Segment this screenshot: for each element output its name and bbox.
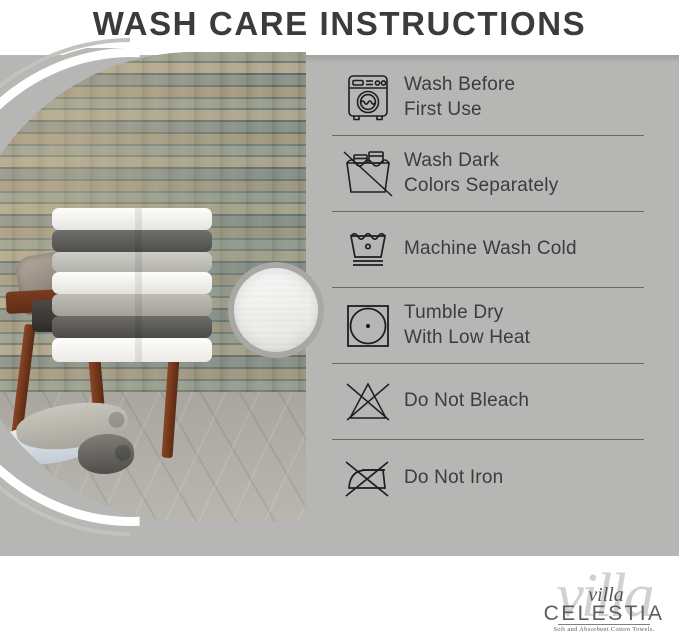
folded-towel xyxy=(52,338,212,362)
logo-divider xyxy=(558,624,650,625)
wash-care-infographic: WASH CARE INSTRUCTIONS xyxy=(0,0,679,642)
page-title: WASH CARE INSTRUCTIONS xyxy=(0,0,679,48)
instruction-list: Wash Before First Use Wash Dark Colors S… xyxy=(332,60,644,516)
machine-wash-cold-icon xyxy=(332,222,404,278)
instruction-row-machine-wash-cold: Machine Wash Cold xyxy=(332,212,644,288)
instruction-label: Wash Dark Colors Separately xyxy=(404,149,558,198)
folded-towel xyxy=(52,316,212,338)
folded-towel xyxy=(52,294,212,316)
do-not-bleach-icon xyxy=(332,374,404,430)
instruction-label: Do Not Bleach xyxy=(404,389,529,413)
instruction-label: Do Not Iron xyxy=(404,466,503,490)
instruction-row-do-not-bleach: Do Not Bleach xyxy=(332,364,644,440)
do-not-iron-icon xyxy=(332,450,404,506)
folded-towel xyxy=(52,272,212,294)
logo-brand-name: CELESTIA xyxy=(536,602,672,626)
folded-towel xyxy=(52,230,212,252)
instruction-row-tumble-dry-low-heat: Tumble Dry With Low Heat xyxy=(332,288,644,364)
fabric-closeup-magnifier xyxy=(228,262,324,358)
instruction-row-do-not-iron: Do Not Iron xyxy=(332,440,644,516)
washing-machine-icon xyxy=(332,70,404,126)
wash-dark-separately-icon xyxy=(332,146,404,202)
folded-towel xyxy=(52,208,212,230)
instruction-label: Wash Before First Use xyxy=(404,73,515,122)
brand-logo: villa villa CELESTIA Soft and Absorbent … xyxy=(536,562,672,638)
instruction-label: Machine Wash Cold xyxy=(404,237,577,261)
instruction-row-wash-before-first-use: Wash Before First Use xyxy=(332,60,644,136)
instruction-label: Tumble Dry With Low Heat xyxy=(404,301,530,350)
folded-towel xyxy=(52,252,212,272)
instruction-row-wash-dark-colors-separately: Wash Dark Colors Separately xyxy=(332,136,644,212)
logo-tagline: Soft and Absorbent Cotton Towels. xyxy=(536,626,672,633)
tumble-dry-low-heat-icon xyxy=(332,298,404,354)
